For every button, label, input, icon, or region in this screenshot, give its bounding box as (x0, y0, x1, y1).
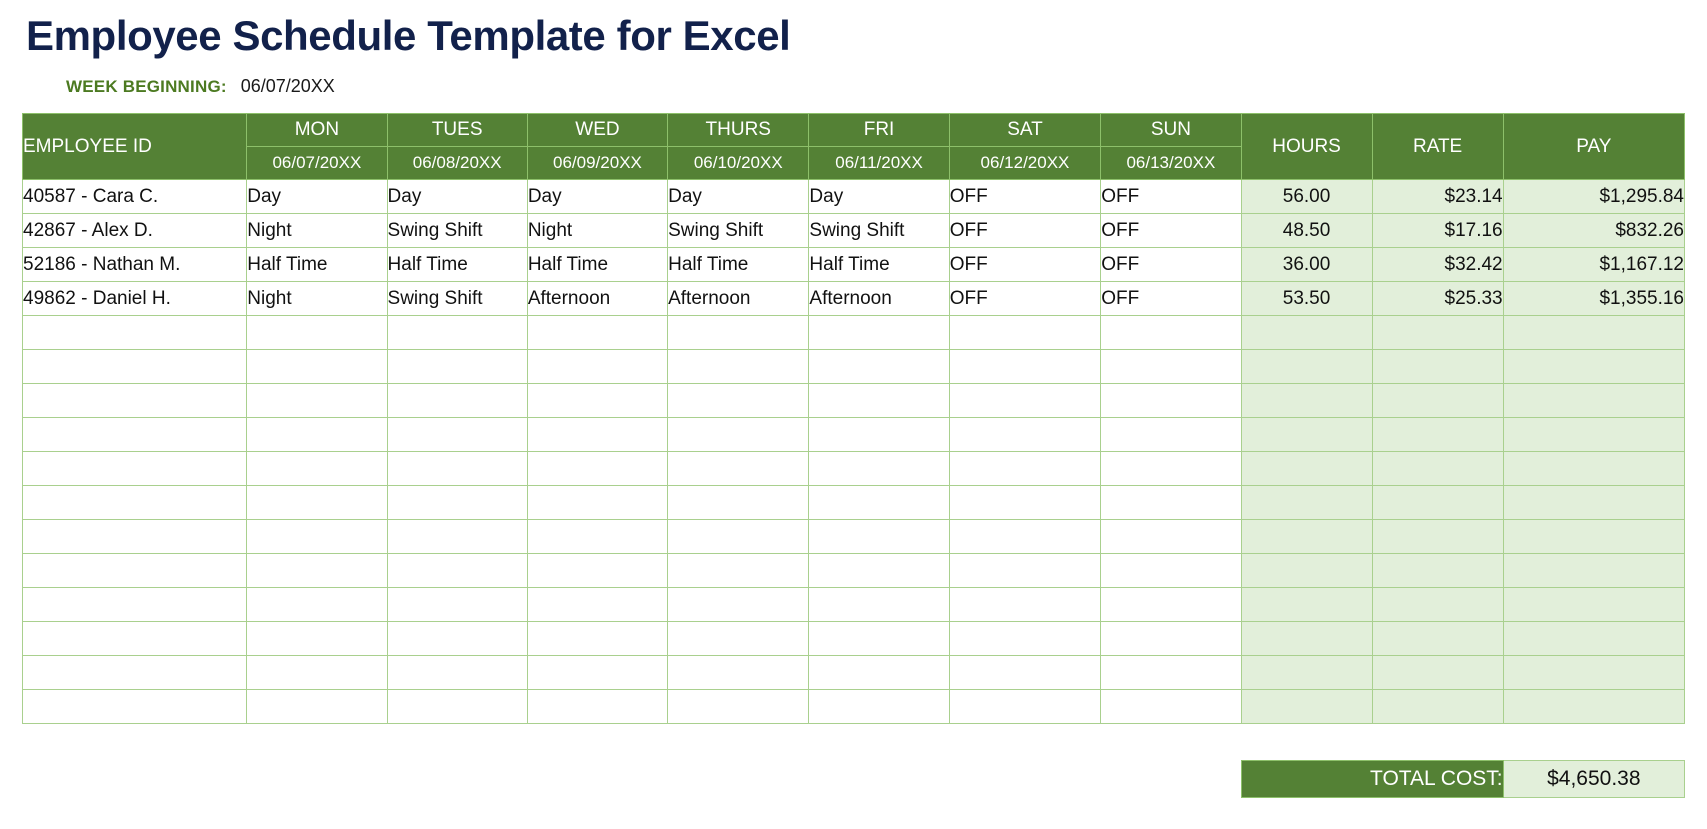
cell-hours[interactable]: 48.50 (1241, 214, 1372, 248)
cell-shift-thurs[interactable] (668, 554, 809, 588)
cell-shift-wed[interactable] (527, 656, 667, 690)
cell-rate[interactable] (1372, 418, 1503, 452)
cell-employee-id[interactable]: 42867 - Alex D. (23, 214, 247, 248)
cell-rate[interactable] (1372, 520, 1503, 554)
cell-shift-wed[interactable] (527, 622, 667, 656)
cell-shift-sun[interactable] (1101, 486, 1241, 520)
cell-employee-id[interactable] (23, 622, 247, 656)
column-header-employee-id[interactable]: EMPLOYEE ID (23, 114, 247, 180)
cell-rate[interactable] (1372, 486, 1503, 520)
cell-shift-sun[interactable] (1101, 554, 1241, 588)
cell-shift-sat[interactable] (949, 418, 1101, 452)
cell-shift-mon[interactable]: Half Time (247, 248, 387, 282)
cell-employee-id[interactable] (23, 316, 247, 350)
column-header-thurs[interactable]: THURS (668, 114, 809, 147)
table-row (23, 486, 1685, 520)
cell-shift-sat[interactable] (949, 316, 1101, 350)
cell-shift-sun[interactable]: OFF (1101, 180, 1241, 214)
table-body: 40587 - Cara C.DayDayDayDayDayOFFOFF56.0… (23, 180, 1685, 724)
cell-hours[interactable]: 36.00 (1241, 248, 1372, 282)
cell-employee-id[interactable] (23, 384, 247, 418)
cell-shift-sat[interactable] (949, 622, 1101, 656)
cell-shift-mon[interactable] (247, 418, 387, 452)
cell-rate[interactable] (1372, 656, 1503, 690)
cell-shift-sun[interactable] (1101, 350, 1241, 384)
column-header-sat-date[interactable]: 06/12/20XX (949, 147, 1101, 180)
cell-shift-sun[interactable]: OFF (1101, 214, 1241, 248)
cell-pay[interactable]: $832.26 (1503, 214, 1684, 248)
cell-shift-fri[interactable] (809, 588, 949, 622)
cell-pay[interactable] (1503, 350, 1684, 384)
cell-shift-thurs[interactable] (668, 520, 809, 554)
cell-shift-sat[interactable]: OFF (949, 282, 1101, 316)
total-cost-row: TOTAL COST: $4,650.38 (23, 761, 1685, 798)
column-header-fri[interactable]: FRI (809, 114, 949, 147)
cell-pay[interactable] (1503, 690, 1684, 724)
cell-hours[interactable] (1241, 520, 1372, 554)
cell-shift-thurs[interactable] (668, 486, 809, 520)
cell-shift-wed[interactable]: Afternoon (527, 282, 667, 316)
column-header-sun[interactable]: SUN (1101, 114, 1241, 147)
cell-shift-sat[interactable] (949, 486, 1101, 520)
cell-hours[interactable] (1241, 554, 1372, 588)
cell-shift-tues[interactable]: Half Time (387, 248, 527, 282)
cell-shift-wed[interactable]: Half Time (527, 248, 667, 282)
cell-rate[interactable] (1372, 588, 1503, 622)
cell-shift-thurs[interactable] (668, 622, 809, 656)
cell-shift-tues[interactable] (387, 384, 527, 418)
cell-shift-fri[interactable] (809, 554, 949, 588)
cell-shift-wed[interactable] (527, 384, 667, 418)
cell-hours[interactable] (1241, 588, 1372, 622)
cell-shift-mon[interactable] (247, 452, 387, 486)
cell-shift-thurs[interactable] (668, 656, 809, 690)
cell-shift-sun[interactable] (1101, 418, 1241, 452)
cell-pay[interactable]: $1,295.84 (1503, 180, 1684, 214)
cell-shift-mon[interactable]: Night (247, 282, 387, 316)
cell-shift-tues[interactable] (387, 316, 527, 350)
cell-rate[interactable] (1372, 452, 1503, 486)
cell-shift-wed[interactable] (527, 486, 667, 520)
cell-rate[interactable]: $25.33 (1372, 282, 1503, 316)
cell-shift-fri[interactable] (809, 520, 949, 554)
footer-spacer-row (23, 724, 1685, 761)
cell-shift-fri[interactable] (809, 622, 949, 656)
cell-pay[interactable] (1503, 486, 1684, 520)
cell-shift-mon[interactable]: Day (247, 180, 387, 214)
cell-shift-sun[interactable] (1101, 622, 1241, 656)
cell-shift-thurs[interactable]: Swing Shift (668, 214, 809, 248)
cell-pay[interactable] (1503, 622, 1684, 656)
cell-employee-id[interactable] (23, 690, 247, 724)
cell-pay[interactable] (1503, 418, 1684, 452)
cell-shift-sat[interactable]: OFF (949, 248, 1101, 282)
cell-shift-fri[interactable] (809, 656, 949, 690)
cell-pay[interactable] (1503, 316, 1684, 350)
table-row (23, 384, 1685, 418)
cell-rate[interactable] (1372, 350, 1503, 384)
cell-hours[interactable] (1241, 418, 1372, 452)
week-beginning-label: WEEK BEGINNING: (66, 77, 227, 97)
cell-hours[interactable] (1241, 486, 1372, 520)
cell-shift-thurs[interactable] (668, 452, 809, 486)
table-row: 49862 - Daniel H.NightSwing ShiftAfterno… (23, 282, 1685, 316)
column-header-hours[interactable]: HOURS (1241, 114, 1372, 180)
cell-shift-wed[interactable]: Day (527, 180, 667, 214)
cell-shift-thurs[interactable]: Afternoon (668, 282, 809, 316)
cell-shift-mon[interactable] (247, 622, 387, 656)
cell-hours[interactable] (1241, 384, 1372, 418)
table-footer: TOTAL COST: $4,650.38 (23, 724, 1685, 798)
cell-shift-wed[interactable] (527, 350, 667, 384)
table-row: 52186 - Nathan M.Half TimeHalf TimeHalf … (23, 248, 1685, 282)
cell-shift-mon[interactable]: Night (247, 214, 387, 248)
cell-employee-id[interactable] (23, 656, 247, 690)
cell-shift-fri[interactable]: Afternoon (809, 282, 949, 316)
cell-hours[interactable] (1241, 350, 1372, 384)
cell-shift-sat[interactable] (949, 384, 1101, 418)
cell-shift-tues[interactable]: Swing Shift (387, 214, 527, 248)
cell-shift-wed[interactable] (527, 452, 667, 486)
cell-shift-fri[interactable] (809, 690, 949, 724)
cell-rate[interactable] (1372, 622, 1503, 656)
table-row (23, 452, 1685, 486)
cell-shift-sat[interactable]: OFF (949, 180, 1101, 214)
schedule-table: EMPLOYEE ID MON TUES WED THURS FRI SAT S… (22, 113, 1685, 798)
table-row (23, 622, 1685, 656)
cell-shift-tues[interactable] (387, 588, 527, 622)
table-row (23, 554, 1685, 588)
cell-employee-id[interactable] (23, 486, 247, 520)
cell-shift-sat[interactable] (949, 520, 1101, 554)
column-header-sun-date[interactable]: 06/13/20XX (1101, 147, 1241, 180)
cell-pay[interactable] (1503, 520, 1684, 554)
cell-rate[interactable]: $17.16 (1372, 214, 1503, 248)
cell-shift-fri[interactable] (809, 452, 949, 486)
header-row-names: EMPLOYEE ID MON TUES WED THURS FRI SAT S… (23, 114, 1685, 147)
employee-schedule-page: Employee Schedule Template for Excel WEE… (0, 0, 1707, 829)
column-header-tues-date[interactable]: 06/08/20XX (387, 147, 527, 180)
cell-shift-thurs[interactable] (668, 384, 809, 418)
column-header-mon[interactable]: MON (247, 114, 387, 147)
table-row (23, 520, 1685, 554)
cell-shift-fri[interactable] (809, 418, 949, 452)
cell-shift-sun[interactable]: OFF (1101, 248, 1241, 282)
cell-shift-fri[interactable]: Half Time (809, 248, 949, 282)
footer-spacer-cell (23, 724, 1685, 761)
cell-employee-id[interactable] (23, 418, 247, 452)
cell-pay[interactable] (1503, 384, 1684, 418)
cell-shift-sun[interactable] (1101, 588, 1241, 622)
cell-rate[interactable] (1372, 690, 1503, 724)
cell-shift-tues[interactable] (387, 418, 527, 452)
cell-hours[interactable] (1241, 452, 1372, 486)
cell-rate[interactable] (1372, 554, 1503, 588)
cell-hours[interactable] (1241, 622, 1372, 656)
cell-shift-sat[interactable] (949, 588, 1101, 622)
cell-shift-sat[interactable]: OFF (949, 214, 1101, 248)
cell-shift-mon[interactable] (247, 520, 387, 554)
table-row (23, 690, 1685, 724)
cell-shift-mon[interactable] (247, 486, 387, 520)
cell-shift-tues[interactable] (387, 690, 527, 724)
cell-shift-sun[interactable] (1101, 656, 1241, 690)
table-row (23, 316, 1685, 350)
cell-hours[interactable]: 53.50 (1241, 282, 1372, 316)
cell-employee-id[interactable] (23, 520, 247, 554)
cell-rate[interactable]: $32.42 (1372, 248, 1503, 282)
cell-shift-mon[interactable] (247, 656, 387, 690)
cell-pay[interactable] (1503, 452, 1684, 486)
table-row (23, 350, 1685, 384)
cell-employee-id[interactable] (23, 588, 247, 622)
table-row (23, 418, 1685, 452)
total-blank-cell (23, 761, 1242, 798)
cell-shift-sat[interactable] (949, 690, 1101, 724)
cell-rate[interactable]: $23.14 (1372, 180, 1503, 214)
cell-shift-wed[interactable] (527, 316, 667, 350)
column-header-tues[interactable]: TUES (387, 114, 527, 147)
table-row: 40587 - Cara C.DayDayDayDayDayOFFOFF56.0… (23, 180, 1685, 214)
cell-employee-id[interactable] (23, 554, 247, 588)
cell-shift-tues[interactable]: Swing Shift (387, 282, 527, 316)
cell-employee-id[interactable] (23, 452, 247, 486)
cell-shift-tues[interactable] (387, 520, 527, 554)
column-header-sat[interactable]: SAT (949, 114, 1101, 147)
cell-shift-thurs[interactable] (668, 690, 809, 724)
cell-shift-tues[interactable] (387, 486, 527, 520)
cell-employee-id[interactable]: 40587 - Cara C. (23, 180, 247, 214)
column-header-fri-date[interactable]: 06/11/20XX (809, 147, 949, 180)
cell-rate[interactable] (1372, 316, 1503, 350)
page-title: Employee Schedule Template for Excel (26, 12, 790, 60)
cell-shift-thurs[interactable] (668, 350, 809, 384)
cell-hours[interactable] (1241, 656, 1372, 690)
cell-hours[interactable] (1241, 316, 1372, 350)
cell-shift-wed[interactable]: Night (527, 214, 667, 248)
cell-shift-tues[interactable]: Day (387, 180, 527, 214)
cell-hours[interactable] (1241, 690, 1372, 724)
cell-shift-fri[interactable] (809, 486, 949, 520)
cell-employee-id[interactable]: 52186 - Nathan M. (23, 248, 247, 282)
cell-shift-wed[interactable] (527, 554, 667, 588)
cell-pay[interactable] (1503, 554, 1684, 588)
cell-employee-id[interactable]: 49862 - Daniel H. (23, 282, 247, 316)
cell-shift-thurs[interactable] (668, 316, 809, 350)
cell-shift-fri[interactable] (809, 316, 949, 350)
cell-shift-fri[interactable]: Swing Shift (809, 214, 949, 248)
cell-pay[interactable]: $1,167.12 (1503, 248, 1684, 282)
table-row: 42867 - Alex D.NightSwing ShiftNightSwin… (23, 214, 1685, 248)
cell-shift-tues[interactable] (387, 554, 527, 588)
cell-shift-sun[interactable] (1101, 452, 1241, 486)
cell-shift-mon[interactable] (247, 690, 387, 724)
table-row (23, 588, 1685, 622)
cell-shift-wed[interactable] (527, 418, 667, 452)
cell-shift-mon[interactable] (247, 554, 387, 588)
cell-shift-sat[interactable] (949, 350, 1101, 384)
cell-rate[interactable] (1372, 384, 1503, 418)
column-header-pay[interactable]: PAY (1503, 114, 1684, 180)
week-beginning-value[interactable]: 06/07/20XX (241, 76, 335, 97)
column-header-mon-date[interactable]: 06/07/20XX (247, 147, 387, 180)
cell-shift-sun[interactable]: OFF (1101, 282, 1241, 316)
cell-shift-fri[interactable]: Day (809, 180, 949, 214)
cell-shift-tues[interactable] (387, 350, 527, 384)
week-beginning-row: WEEK BEGINNING: 06/07/20XX (66, 76, 335, 97)
column-header-thurs-date[interactable]: 06/10/20XX (668, 147, 809, 180)
cell-shift-thurs[interactable] (668, 418, 809, 452)
cell-shift-sun[interactable] (1101, 690, 1241, 724)
column-header-wed-date[interactable]: 06/09/20XX (527, 147, 667, 180)
cell-shift-fri[interactable] (809, 350, 949, 384)
total-cost-value[interactable]: $4,650.38 (1503, 761, 1684, 798)
cell-shift-sat[interactable] (949, 656, 1101, 690)
column-header-rate[interactable]: RATE (1372, 114, 1503, 180)
cell-hours[interactable]: 56.00 (1241, 180, 1372, 214)
cell-pay[interactable] (1503, 656, 1684, 690)
table-header: EMPLOYEE ID MON TUES WED THURS FRI SAT S… (23, 114, 1685, 180)
cell-employee-id[interactable] (23, 350, 247, 384)
cell-shift-mon[interactable] (247, 384, 387, 418)
cell-shift-mon[interactable] (247, 350, 387, 384)
cell-shift-tues[interactable] (387, 452, 527, 486)
cell-shift-thurs[interactable]: Day (668, 180, 809, 214)
cell-shift-mon[interactable] (247, 316, 387, 350)
cell-shift-sun[interactable] (1101, 384, 1241, 418)
cell-shift-tues[interactable] (387, 622, 527, 656)
table-row (23, 656, 1685, 690)
cell-shift-wed[interactable] (527, 690, 667, 724)
cell-shift-mon[interactable] (247, 588, 387, 622)
cell-shift-wed[interactable] (527, 520, 667, 554)
cell-shift-sun[interactable] (1101, 520, 1241, 554)
total-cost-label: TOTAL COST: (1241, 761, 1503, 798)
cell-shift-sun[interactable] (1101, 316, 1241, 350)
cell-shift-thurs[interactable]: Half Time (668, 248, 809, 282)
cell-pay[interactable]: $1,355.16 (1503, 282, 1684, 316)
cell-shift-sat[interactable] (949, 452, 1101, 486)
column-header-wed[interactable]: WED (527, 114, 667, 147)
cell-shift-fri[interactable] (809, 384, 949, 418)
cell-shift-thurs[interactable] (668, 588, 809, 622)
cell-pay[interactable] (1503, 588, 1684, 622)
cell-shift-wed[interactable] (527, 588, 667, 622)
cell-shift-sat[interactable] (949, 554, 1101, 588)
cell-shift-tues[interactable] (387, 656, 527, 690)
